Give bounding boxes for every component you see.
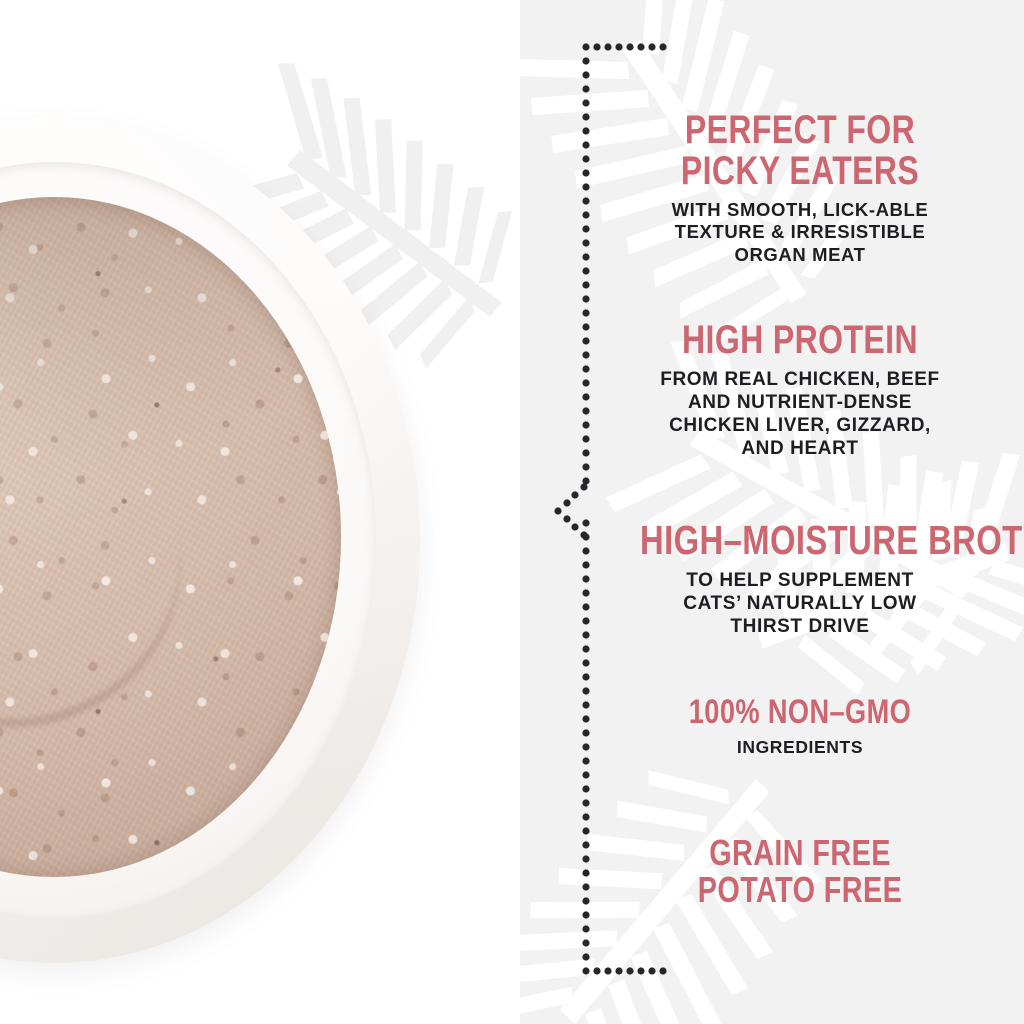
benefit-block-grain-free: GRAIN FREE POTATO FREE (600, 835, 1000, 908)
benefit-headline: HIGH PROTEIN (640, 320, 960, 361)
infographic-canvas: PERFECT FOR PICKY EATERS WITH SMOOTH, LI… (0, 0, 1024, 1024)
benefit-headline: GRAIN FREE POTATO FREE (640, 835, 960, 908)
benefits-panel: PERFECT FOR PICKY EATERS WITH SMOOTH, LI… (600, 0, 1000, 1024)
benefit-headline: HIGH–MOISTURE BROTH (640, 520, 960, 562)
benefit-body: WITH SMOOTH, LICK-ABLE TEXTURE & IRRESIS… (600, 199, 1000, 267)
chevron-left-pointer (554, 483, 587, 538)
benefit-headline: PERFECT FOR PICKY EATERS (640, 110, 960, 192)
benefit-block-high-moisture-broth: HIGH–MOISTURE BROTH TO HELP SUPPLEMENT C… (600, 520, 1000, 638)
benefit-block-picky-eaters: PERFECT FOR PICKY EATERS WITH SMOOTH, LI… (600, 110, 1000, 266)
benefit-block-high-protein: HIGH PROTEIN FROM REAL CHICKEN, BEEF AND… (600, 320, 1000, 460)
benefit-body: FROM REAL CHICKEN, BEEF AND NUTRIENT-DEN… (600, 368, 1000, 461)
benefit-body: TO HELP SUPPLEMENT CATS’ NATURALLY LOW T… (600, 569, 1000, 639)
benefit-body: INGREDIENTS (600, 737, 1000, 758)
benefit-block-non-gmo: 100% NON–GMO INGREDIENTS (600, 695, 1000, 758)
benefit-headline: 100% NON–GMO (640, 695, 960, 730)
